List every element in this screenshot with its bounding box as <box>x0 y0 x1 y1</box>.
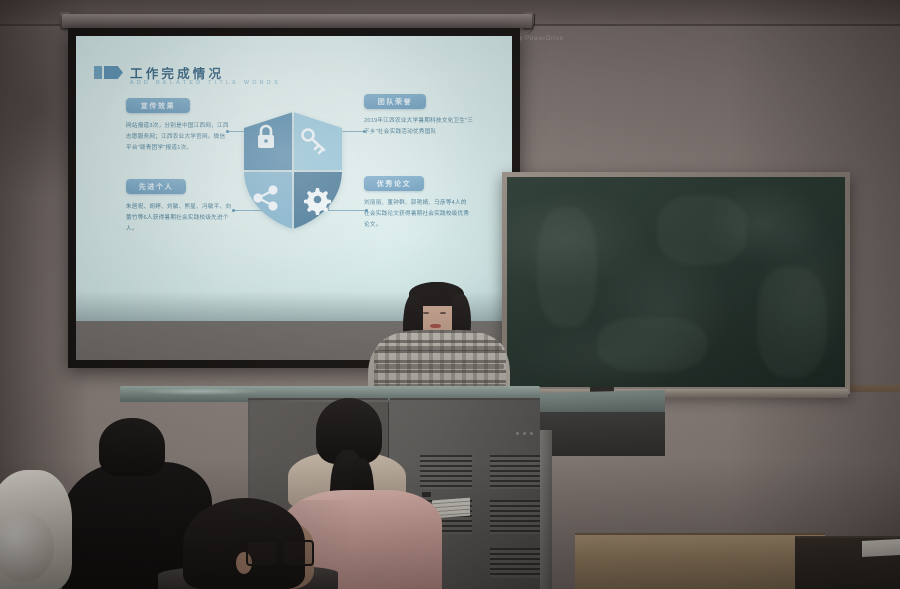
podium-vent-3 <box>490 455 542 489</box>
eyeglass-bridge <box>274 547 282 549</box>
shield-svg <box>238 108 348 233</box>
slide-box-header-bottom-left: 先进个人 <box>126 179 186 194</box>
gear-icon <box>304 188 331 215</box>
eyeglass-lens-right <box>282 540 314 566</box>
paper-sheet[interactable] <box>862 539 900 557</box>
podium-indicator-led-3 <box>530 432 533 435</box>
projected-image-area: 工作完成情况 ADD RELATED TITLE WORDS <box>76 36 512 321</box>
slide-subtitle: ADD RELATED TITLE WORDS <box>130 80 281 86</box>
sweater-pattern-band-1 <box>378 346 502 351</box>
slide-box-header-bottom-right: 优秀论文 <box>364 176 424 191</box>
eyeglasses-icon <box>246 540 312 564</box>
classroom-scene: PowerDrive 工作完成情况 ADD RELATED TITLE WORD… <box>0 0 900 589</box>
projector-screen-roller[interactable]: PowerDrive <box>62 14 532 28</box>
roller-brand-label: PowerDrive <box>517 34 579 43</box>
blackboard-frame <box>502 172 850 394</box>
powerpoint-slide: 工作完成情况 ADD RELATED TITLE WORDS <box>76 36 512 321</box>
green-chalkboard[interactable] <box>507 177 845 387</box>
slide-box-header-top-right: 团队荣誉 <box>364 94 426 109</box>
roller-brand-text: PowerDrive <box>525 36 564 42</box>
presenter-mouth <box>430 324 441 328</box>
presenter-eye-left <box>423 312 429 314</box>
slide-box-body-bottom-left: 朱居祝、胡婷、刘敏、熊星、冯敏平、向蕾竹等6人获得暑期社会实践校级先进个人。 <box>126 202 236 235</box>
sweater-pattern-band-2 <box>376 364 504 369</box>
wooden-desk[interactable] <box>575 535 825 589</box>
shield-infographic <box>238 108 348 233</box>
slide-box-body-top-left: 网站报道3次，分别是中国江西网，江西志愿服务网；江西农业大学官网。微信平台"赣青… <box>126 121 230 154</box>
podium-indicator-led-2 <box>523 432 526 435</box>
podium-desktop-highlight <box>140 388 260 395</box>
chevron-marker-icon <box>94 66 123 79</box>
podium-indicator-led-1 <box>516 432 519 435</box>
audience-dark-head <box>99 418 165 476</box>
podium-vent-4 <box>490 500 542 534</box>
podium-support-leg <box>540 430 552 589</box>
eyeglass-lens-left <box>246 540 278 566</box>
podium-vent-5 <box>490 548 542 578</box>
podium-small-device[interactable] <box>422 492 431 497</box>
podium-vent-1 <box>420 455 472 489</box>
slide-box-body-bottom-right: 刘丽丽、董钟群、郭艳婧、马彦等4人的社会实践论文获得暑期社会实践校级优秀论文。 <box>364 198 470 231</box>
slide-box-header-top-left: 宣传效果 <box>126 98 190 113</box>
presenter-eye-right <box>440 312 446 314</box>
slide-box-body-top-right: 2019年江西农业大学暑期科技文化卫生"三下乡"社会实践活动优秀国队 <box>364 116 476 138</box>
